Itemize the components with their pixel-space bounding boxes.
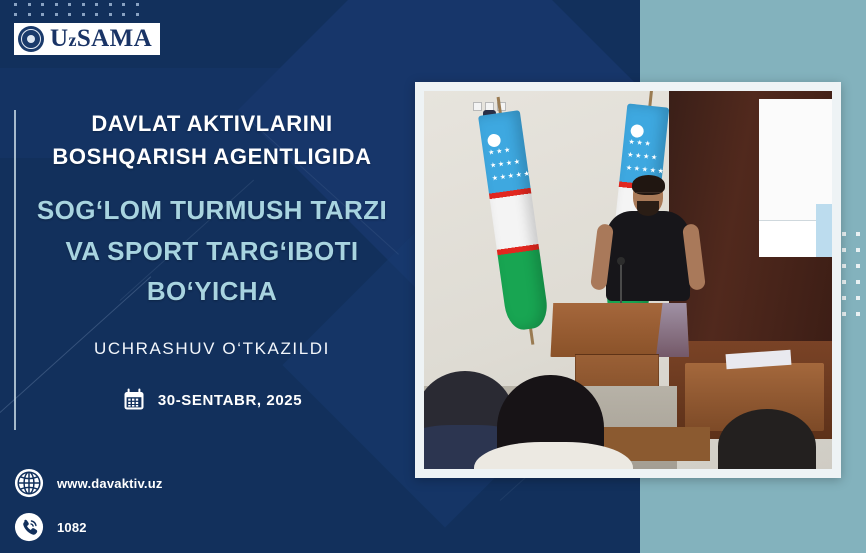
headline-highlight-3: BO‘YICHA xyxy=(32,272,392,310)
dot-grid-top xyxy=(14,3,144,19)
poster-canvas: UzSAMA DAVLAT AKTIVLARINI BOSHQARISH AGE… xyxy=(0,0,866,553)
headline-highlight-2: VA SPORT TARG‘IBOTI xyxy=(32,232,392,270)
event-photo: ★★★★★★★★★★★★ ★★★★★★★★★★★★ xyxy=(424,91,832,469)
brand-logo: UzSAMA xyxy=(14,23,160,55)
phone-icon xyxy=(14,512,44,542)
vertical-accent-rule xyxy=(14,110,16,430)
photo-microphone xyxy=(620,262,622,305)
photo-audience-member xyxy=(497,375,603,470)
headline-subtitle: UCHRASHUV O‘TKAZILDI xyxy=(32,339,392,359)
headline-highlight-1: SOG‘LOM TURMUSH TARZI xyxy=(32,191,392,229)
headline-block: DAVLAT AKTIVLARINI BOSHQARISH AGENTLIGID… xyxy=(32,108,392,359)
event-date-text: 30-SENTABR, 2025 xyxy=(158,392,302,409)
headline-line-2: BOSHQARISH AGENTLIGIDA xyxy=(32,141,392,174)
brand-logo-text: UzSAMA xyxy=(50,23,152,56)
dot-grid-right xyxy=(842,232,864,320)
phone-number-text: 1082 xyxy=(57,520,87,535)
contact-website[interactable]: www.davaktiv.uz xyxy=(14,468,163,498)
uzbekistan-emblem-icon xyxy=(18,26,44,52)
event-date-row: 30-SENTABR, 2025 xyxy=(32,388,392,412)
event-photo-card: ★★★★★★★★★★★★ ★★★★★★★★★★★★ xyxy=(415,82,841,478)
globe-icon xyxy=(14,468,44,498)
calendar-icon xyxy=(122,388,146,412)
website-url-text: www.davaktiv.uz xyxy=(57,476,163,491)
contact-list: www.davaktiv.uz 1082 xyxy=(14,468,163,542)
headline-line-1: DAVLAT AKTIVLARINI xyxy=(32,108,392,141)
photo-screen xyxy=(759,99,832,220)
contact-phone[interactable]: 1082 xyxy=(14,512,163,542)
photo-screen-accent xyxy=(816,204,832,257)
